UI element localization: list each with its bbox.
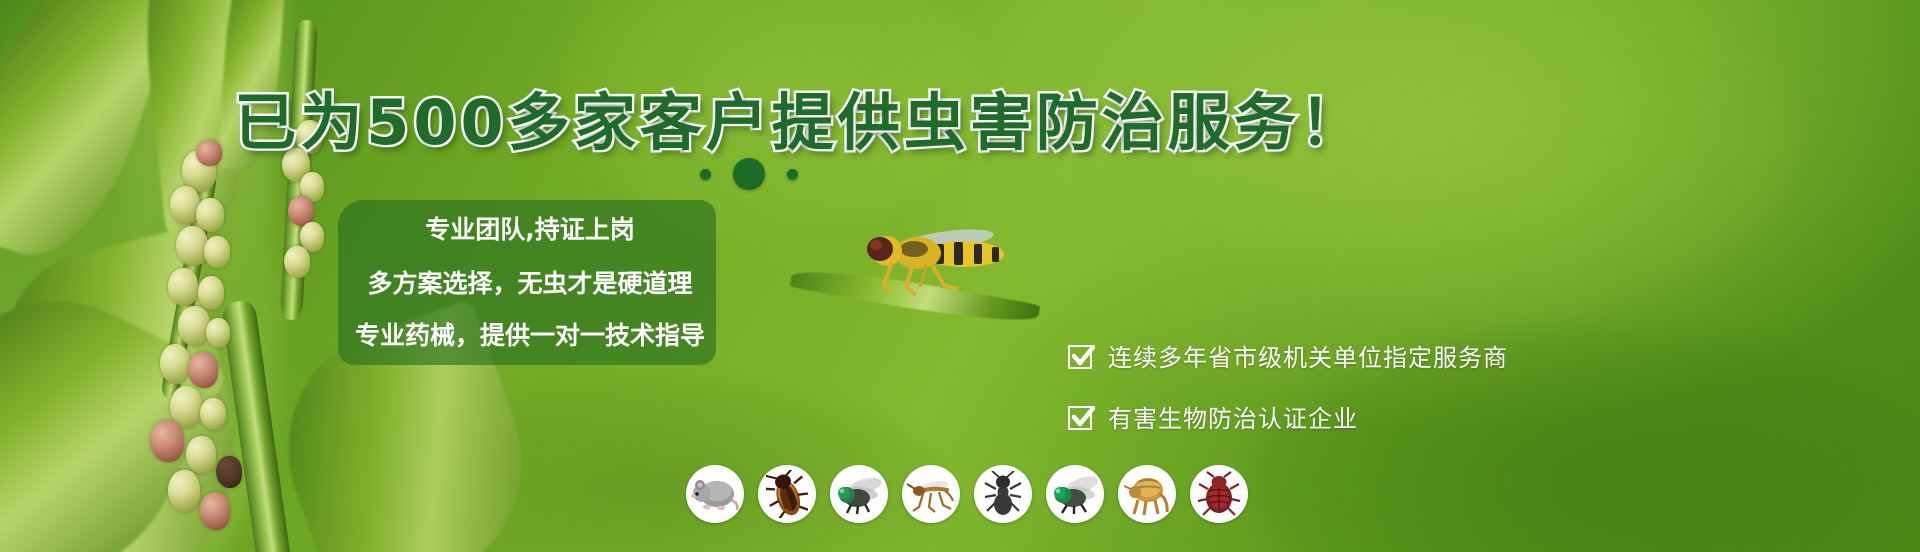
feature-line-3: 专业药械，提供一对一技术指导	[340, 316, 720, 352]
list-item: 连续多年省市级机关单位指定服务商	[1068, 338, 1508, 373]
promo-banner: 已为500多家客户提供虫害防治服务！ 专业团队,持证上岗 多方案选择，无虫才是硬…	[0, 0, 1920, 552]
dot-small-right	[787, 169, 798, 180]
dot-large-center	[733, 158, 765, 190]
hoverfly-on-leaf-photo	[790, 235, 1030, 325]
checkbox-checked-icon	[1068, 343, 1094, 369]
checkbox-checked-icon	[1068, 404, 1094, 430]
dot-small-left	[700, 169, 711, 180]
cockroach-icon[interactable]	[758, 465, 816, 523]
credential-label: 连续多年省市级机关单位指定服务商	[1108, 338, 1508, 373]
fly-icon[interactable]	[830, 465, 888, 523]
mosquito-icon[interactable]	[902, 465, 960, 523]
ant-icon[interactable]	[974, 465, 1032, 523]
rodent-icon[interactable]	[686, 465, 744, 523]
feature-line-2: 多方案选择，无虫才是硬道理	[340, 264, 720, 300]
feature-panel-text: 专业团队,持证上岗 多方案选择，无虫才是硬道理 专业药械，提供一对一技术指导	[340, 210, 720, 352]
bedbug-icon[interactable]	[1190, 465, 1248, 523]
flea-icon[interactable]	[1118, 465, 1176, 523]
credential-list: 连续多年省市级机关单位指定服务商 有害生物防治认证企业	[1068, 338, 1508, 460]
list-item: 有害生物防治认证企业	[1068, 399, 1508, 434]
blowfly-icon[interactable]	[1046, 465, 1104, 523]
decorative-dot-group	[700, 158, 798, 190]
credential-label: 有害生物防治认证企业	[1108, 399, 1358, 434]
page-title-text: 已为500多家客户提供虫害防治服务！	[234, 86, 1365, 159]
feature-line-1: 专业团队,持证上岗	[340, 210, 720, 246]
page-title: 已为500多家客户提供虫害防治服务！	[0, 72, 1600, 162]
pest-icon-row	[686, 465, 1248, 523]
